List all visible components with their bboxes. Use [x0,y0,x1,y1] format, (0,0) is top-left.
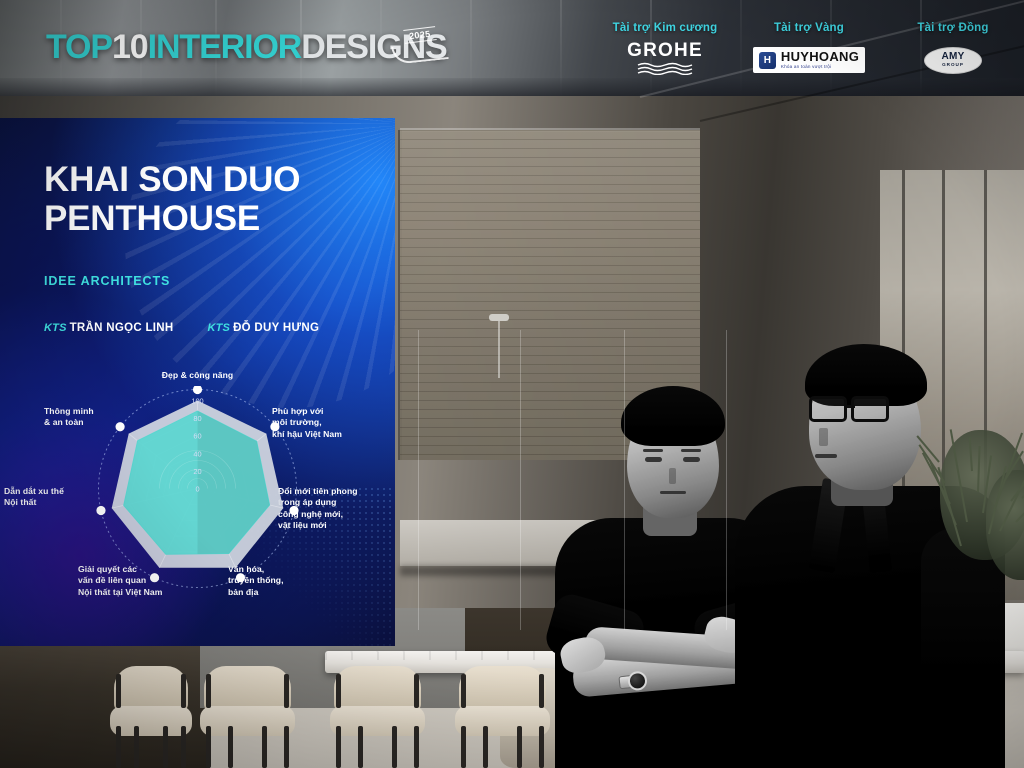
nose [819,428,828,446]
dining-chair [330,656,425,768]
eyebrow [681,449,701,452]
sponsor-tier-label: Tài trợ Kim cương [610,22,720,34]
sponsor-logo-grohe[interactable]: GROHE [610,43,720,77]
chair-rail [336,674,341,708]
poster-canvas: TOP10INTERIORDESIGNS 2025 Tài trợ Kim cư… [0,0,1024,768]
chair-rail [181,674,186,708]
huyhoang-mark-icon: H [759,52,776,69]
chair-leg [262,726,267,768]
chair-seat [330,706,425,736]
pendant-lamp [489,314,509,321]
hair [621,386,725,446]
amy-wordmark: AMY [941,52,964,62]
chair-leg [414,726,419,768]
ceiling-streak [560,0,562,104]
chair-leg [134,726,139,768]
ceiling-streak [470,0,472,104]
glass-partition-line [418,330,419,630]
dining-chair [200,656,295,768]
chair-rail [284,674,289,708]
chair-leg [181,726,186,768]
eye [645,457,662,462]
architect-credit-2: KTSĐỖ DUY HƯNG [207,318,319,336]
nose [669,468,676,484]
svg-text:20: 20 [193,467,201,476]
svg-text:100: 100 [191,397,203,406]
radar-plot: 020406080100 [95,386,300,591]
chair-leg [392,726,397,768]
dining-chair [110,660,192,768]
eye [683,457,700,462]
evaluation-radar-chart: Đẹp & công năng Phù hợp vớimôi trường,kh… [0,368,395,646]
svg-text:40: 40 [193,449,201,458]
architect-credit-1: KTSTRẦN NGỌC LINH [44,318,173,336]
chair-leg [539,726,544,768]
chair-leg [206,726,211,768]
sponsor-bar: Tài trợ Kim cương GROHE Tài trợ Vàng [610,22,1008,77]
architect-credits: KTSTRẦN NGỌC LINH KTSĐỖ DUY HƯNG [44,318,364,336]
project-title: KHAI SON DUO PENTHOUSE [44,160,374,238]
dining-chair [455,656,550,768]
project-title-line2: PENTHOUSE [44,199,374,238]
sponsor-tier-label: Tài trợ Vàng [754,22,864,34]
sponsor-gold[interactable]: Tài trợ Vàng H HUYHOANG Khóa an toàn vượ… [754,22,864,77]
eyeglasses-bridge [845,405,855,408]
chair-seat [455,706,550,736]
huyhoang-wordmark: HUYHOANG [781,50,859,63]
chair-leg [163,726,168,768]
logo-ten: 10 [112,28,148,66]
architect-name: TRẦN NGỌC LINH [70,322,174,334]
chair-rail [539,674,544,708]
chair-leg [116,726,121,768]
chair-leg [517,726,522,768]
grohe-wordmark: GROHE [627,41,703,60]
svg-text:60: 60 [193,432,201,441]
mouth [660,491,686,494]
kts-prefix: KTS [44,322,67,334]
architects-portrait [545,328,1015,768]
project-info-panel: KHAI SON DUO PENTHOUSE IDEE ARCHITECTS K… [0,118,395,646]
chair-seat [110,706,192,736]
sponsor-tier-label: Tài trợ Đồng [898,22,1008,34]
radar-axis-label-0: Đẹp & công năng [0,370,395,381]
logo-interior: INTERIOR [148,28,302,66]
svg-text:80: 80 [193,414,201,423]
pendant-rod [498,318,500,378]
blazer-sleeve [921,528,1005,758]
eyeglasses-right-lens [851,396,889,422]
glass-partition-line [520,330,521,630]
glass-partition-line [726,330,727,630]
chair-leg [358,726,363,768]
chair-leg [284,726,289,768]
studio-name: IDEE ARCHITECTS [44,274,170,288]
chair-seat [200,706,295,736]
chair-leg [483,726,488,768]
sponsor-logo-huyhoang[interactable]: H HUYHOANG Khóa an toàn vượt trội [754,43,864,77]
chair-leg [336,726,341,768]
svg-text:0: 0 [195,485,199,494]
sponsor-bronze[interactable]: Tài trợ Đồng AMY GROUP [898,22,1008,77]
eyeglasses-left-lens [809,396,847,422]
sponsor-diamond[interactable]: Tài trợ Kim cương GROHE [610,22,720,77]
huyhoang-tagline: Khóa an toàn vượt trội [781,65,859,70]
chair-rail [206,674,211,708]
wristwatch [618,674,645,690]
chair-leg [228,726,233,768]
chair-rail [414,674,419,708]
project-title-line1: KHAI SON DUO [44,160,374,199]
event-logo[interactable]: TOP10INTERIORDESIGNS [46,26,447,68]
chair-rail [461,674,466,708]
kts-prefix: KTS [207,322,230,334]
chair-leg [461,726,466,768]
grohe-waves-icon [627,62,703,79]
eyebrow [643,449,663,452]
mouth [815,454,837,458]
glass-partition-line [624,330,625,630]
architect-name: ĐỖ DUY HƯNG [233,322,319,334]
radar-axis-label-5: Dẫn dắt xu thếNội thất [4,486,109,509]
logo-top: TOP [46,28,112,66]
sponsor-logo-amy[interactable]: AMY GROUP [898,43,1008,77]
amy-subtext: GROUP [942,63,964,68]
chair-rail [116,674,121,708]
